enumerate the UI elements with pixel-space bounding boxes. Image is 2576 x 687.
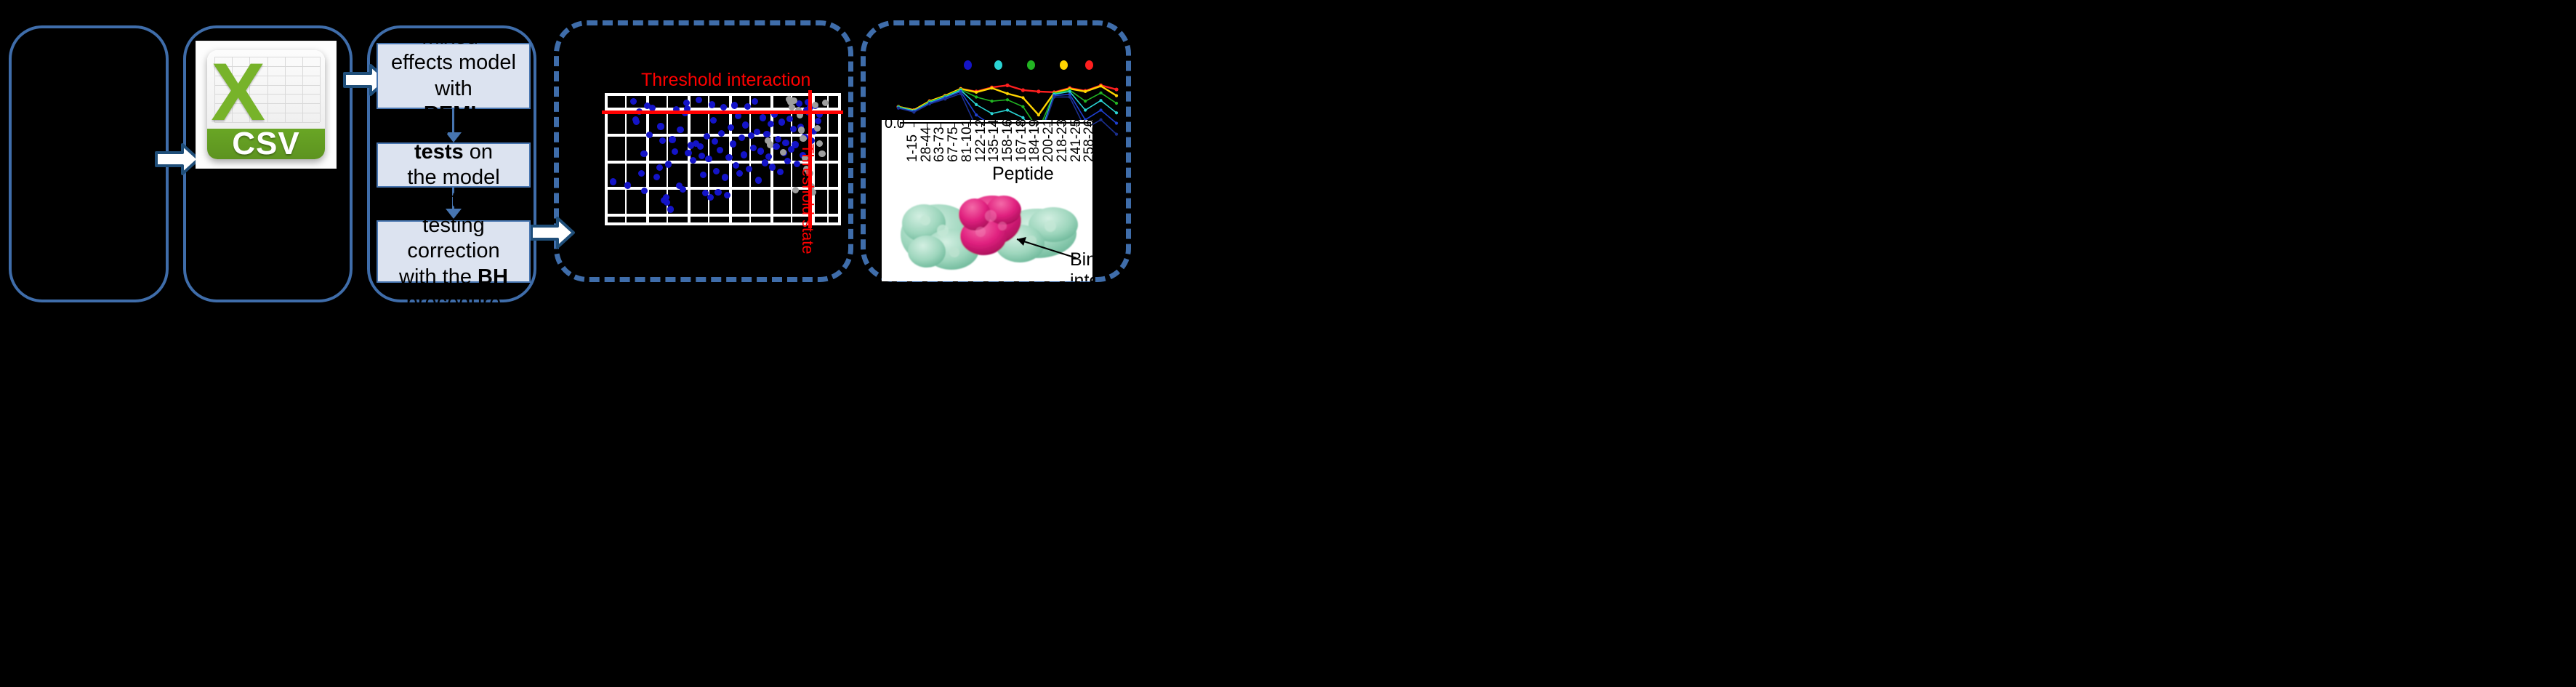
peptide-series-marker bbox=[975, 95, 978, 98]
scatter-point bbox=[646, 132, 653, 138]
scatter-point bbox=[680, 186, 686, 193]
peptide-series-marker bbox=[1099, 92, 1102, 95]
protein-complex-surface bbox=[882, 182, 1092, 281]
scatter-point bbox=[704, 133, 710, 140]
scatter-point bbox=[800, 135, 806, 142]
scatter-point bbox=[699, 153, 705, 159]
scatter-point bbox=[672, 148, 678, 155]
peptide-series-marker bbox=[1114, 87, 1118, 91]
scatter-point bbox=[696, 97, 702, 103]
scatter-point bbox=[775, 136, 781, 142]
scatter-point bbox=[667, 206, 674, 212]
scatter-point bbox=[780, 149, 786, 156]
scatter-point bbox=[784, 158, 791, 164]
scatter-point bbox=[656, 164, 663, 171]
peptide-series-marker bbox=[1068, 95, 1071, 98]
scatter-point bbox=[638, 170, 645, 177]
scatter-point bbox=[718, 130, 725, 137]
peptide-x-tick bbox=[927, 122, 927, 127]
scatter-point bbox=[725, 154, 732, 161]
scatter-point bbox=[736, 170, 743, 177]
peptide-x-tick bbox=[981, 122, 982, 127]
scatter-point bbox=[746, 166, 752, 172]
binding-interface-line2: interface bbox=[1070, 270, 1092, 281]
peptide-series-marker bbox=[1099, 118, 1102, 121]
scatter-point bbox=[677, 126, 683, 133]
scatter-point bbox=[713, 168, 720, 174]
peptide-x-tick bbox=[914, 122, 914, 127]
scatter-point bbox=[633, 118, 640, 125]
peptide-series-marker bbox=[1099, 84, 1102, 87]
peptide-series-marker bbox=[975, 103, 978, 106]
scatter-point bbox=[624, 182, 631, 188]
csv-icon-x-letter: X bbox=[211, 52, 265, 133]
peptide-x-tick bbox=[1090, 122, 1091, 127]
scatter-point bbox=[789, 104, 795, 111]
scatter-point bbox=[659, 137, 666, 144]
peptide-x-tick bbox=[900, 122, 901, 127]
peptide-series-line bbox=[898, 85, 1116, 110]
peptide-chart-legend bbox=[878, 57, 1125, 73]
peptide-series-marker bbox=[1068, 90, 1071, 93]
peptide-series-marker bbox=[1037, 113, 1040, 116]
peptide-legend-dot bbox=[994, 60, 1002, 70]
scatter-point bbox=[630, 98, 637, 105]
peptide-x-tick bbox=[1036, 122, 1037, 127]
peptide-series-marker bbox=[1021, 96, 1024, 99]
step-wald-tests: Apply Wald tests onthe model parameters bbox=[377, 142, 531, 188]
scatter-point bbox=[664, 199, 670, 206]
scatter-point bbox=[731, 102, 738, 108]
peptide-x-tick bbox=[995, 122, 996, 127]
peptide-x-ticks: 1-1528-4463-7367-7581-101122-129135-1441… bbox=[882, 120, 1092, 164]
peptide-x-tick bbox=[1063, 122, 1064, 127]
peptide-x-axis-label: Peptide bbox=[992, 164, 1054, 185]
peptide-series-marker bbox=[1006, 98, 1009, 101]
scatter-point bbox=[715, 189, 721, 196]
scatter-point bbox=[610, 178, 616, 185]
peptide-x-tick bbox=[1009, 122, 1010, 127]
peptide-series-marker bbox=[1068, 93, 1071, 96]
peptide-series-marker bbox=[1115, 133, 1118, 136]
scatter-point bbox=[765, 153, 772, 160]
threshold-scatter: Threshold interaction Threshold state bbox=[574, 58, 843, 240]
peptide-series-marker bbox=[1021, 105, 1024, 108]
peptide-series-marker bbox=[1115, 94, 1118, 97]
peptide-series-marker bbox=[990, 112, 993, 115]
scatter-point bbox=[752, 98, 758, 105]
scatter-point bbox=[722, 174, 728, 180]
scatter-point bbox=[709, 101, 715, 108]
scatter-point bbox=[657, 123, 664, 129]
peptide-x-tick bbox=[968, 122, 969, 127]
peptide-uptake-chart bbox=[878, 57, 1125, 129]
peptide-series-marker bbox=[975, 113, 978, 116]
scatter-point bbox=[744, 103, 751, 110]
scatter-point bbox=[755, 177, 762, 183]
scatter-point bbox=[685, 150, 691, 156]
scatter-point bbox=[712, 138, 718, 145]
peptide-series-marker bbox=[1006, 92, 1009, 95]
scatter-point bbox=[815, 118, 821, 124]
peptide-series-marker bbox=[928, 103, 931, 105]
scatter-point bbox=[750, 145, 757, 151]
peptide-legend-dot bbox=[1060, 60, 1068, 70]
peptide-series-marker bbox=[990, 100, 993, 103]
scatter-point bbox=[669, 136, 675, 142]
scatter-point bbox=[763, 131, 770, 137]
peptide-x-tick bbox=[1076, 122, 1077, 127]
peptide-series-marker bbox=[943, 97, 946, 100]
peptide-series-marker bbox=[1006, 108, 1009, 111]
csv-icon-label: CSV bbox=[232, 126, 299, 159]
scatter-point bbox=[786, 116, 793, 122]
scatter-point bbox=[754, 129, 760, 135]
threshold-interaction-label: Threshold interaction bbox=[641, 70, 810, 91]
peptide-series-marker bbox=[990, 87, 993, 89]
scatter-point bbox=[816, 140, 823, 147]
scatter-point bbox=[773, 143, 779, 150]
peptide-series-marker bbox=[1084, 108, 1087, 111]
scatter-point bbox=[790, 126, 797, 132]
scatter-point bbox=[707, 194, 714, 201]
scatter-point bbox=[798, 126, 805, 133]
peptide-series-marker bbox=[912, 111, 915, 113]
scatter-point bbox=[705, 156, 712, 162]
peptide-x-tick bbox=[1022, 122, 1023, 127]
peptide-axis-card: 0.0 1-1528-4463-7367-7581-101122-129135-… bbox=[882, 120, 1092, 281]
scatter-point bbox=[760, 114, 766, 121]
scatter-point bbox=[665, 161, 672, 167]
peptide-series-marker bbox=[1021, 116, 1024, 119]
scatter-point bbox=[710, 117, 717, 124]
peptide-series-marker bbox=[959, 92, 962, 95]
peptide-series-marker bbox=[1115, 121, 1118, 124]
scatter-point bbox=[653, 174, 660, 180]
peptide-legend-dot bbox=[1085, 60, 1093, 70]
arrow-stage3-to-stage4 bbox=[530, 216, 575, 249]
scatter-point bbox=[738, 134, 745, 141]
peptide-series-marker bbox=[1115, 102, 1118, 105]
peptide-series-marker bbox=[897, 107, 900, 110]
scatter-point bbox=[782, 140, 789, 146]
peptide-series-marker bbox=[1021, 88, 1025, 92]
peptide-series-marker bbox=[1115, 111, 1118, 114]
threshold-interaction-line bbox=[602, 111, 843, 114]
step-multiple-testing-text: Multiple testingcorrectionwith the BH pr… bbox=[384, 188, 523, 316]
peptide-x-tick bbox=[1050, 122, 1050, 127]
scatter-point bbox=[700, 172, 707, 178]
scatter-point bbox=[778, 118, 785, 125]
csv-icon-body: X CSV bbox=[207, 50, 324, 159]
scatter-point bbox=[814, 125, 821, 132]
scatter-point bbox=[767, 141, 773, 148]
scatter-point bbox=[741, 151, 747, 158]
scatter-point bbox=[733, 162, 739, 169]
step-multiple-testing: Multiple testingcorrectionwith the BH pr… bbox=[377, 220, 531, 283]
step-fit-model: Fit a linear mixed-effects model withREM… bbox=[377, 43, 531, 109]
binding-interface-line1: Binding bbox=[1070, 249, 1092, 270]
scatter-point bbox=[717, 147, 723, 153]
empty-stage-panel bbox=[9, 25, 169, 302]
peptide-series-marker bbox=[1084, 90, 1087, 93]
peptide-series-marker bbox=[1099, 108, 1102, 111]
scatter-point bbox=[757, 148, 764, 154]
scatter-point bbox=[640, 150, 647, 157]
scatter-point bbox=[769, 164, 776, 170]
peptide-x-tick bbox=[941, 122, 941, 127]
scatter-point bbox=[812, 102, 818, 108]
csv-icon-label-band: CSV bbox=[207, 129, 324, 159]
peptide-series-marker bbox=[1005, 84, 1009, 87]
scatter-point bbox=[728, 124, 734, 131]
peptide-series-marker bbox=[975, 91, 978, 94]
scatter-point bbox=[777, 169, 784, 175]
scatter-point bbox=[730, 140, 736, 147]
binding-interface-annotation: Binding interface bbox=[1070, 249, 1092, 281]
scatter-point bbox=[742, 121, 749, 128]
peptide-series-marker bbox=[1037, 89, 1040, 93]
threshold-state-label: Threshold state bbox=[798, 144, 817, 254]
scatter-point bbox=[818, 150, 825, 157]
scatter-point bbox=[724, 192, 730, 198]
peptide-series-marker bbox=[1099, 99, 1102, 102]
scatter-point bbox=[720, 104, 727, 111]
scatter-point bbox=[762, 159, 768, 166]
peptide-legend-dot bbox=[964, 60, 972, 70]
csv-icon-sheet: X bbox=[207, 50, 324, 129]
scatter-point bbox=[690, 157, 696, 164]
scatter-point bbox=[768, 121, 774, 127]
peptide-legend-dot bbox=[1027, 60, 1035, 70]
scatter-point bbox=[790, 97, 797, 104]
scatter-point bbox=[641, 188, 648, 194]
arrow-stage1-to-stage2 bbox=[155, 142, 200, 176]
csv-file-icon: X CSV bbox=[196, 41, 336, 168]
peptide-series-marker bbox=[1084, 100, 1087, 103]
peptide-series-marker bbox=[1052, 95, 1055, 98]
scatter-point bbox=[697, 143, 704, 150]
peptide-x-tick bbox=[954, 122, 955, 127]
scatter-point bbox=[822, 100, 829, 106]
